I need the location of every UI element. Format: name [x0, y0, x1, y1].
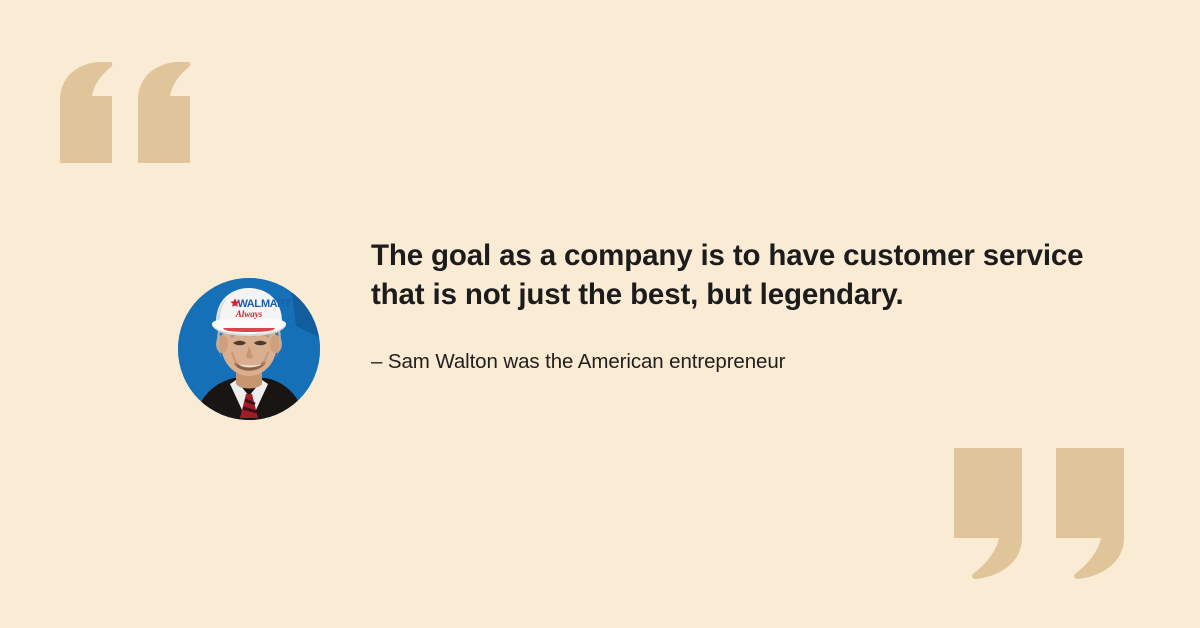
quote-content-row: WAL MART MART Always The goal as a compa… [178, 236, 1178, 420]
quote-text-block: The goal as a company is to have custome… [371, 236, 1178, 376]
portrait-avatar: WAL MART MART Always [178, 278, 320, 420]
quote-text: The goal as a company is to have custome… [371, 236, 1101, 314]
svg-text:MART: MART [261, 298, 292, 310]
svg-text:Always: Always [235, 309, 263, 319]
quote-card: WAL MART MART Always The goal as a compa… [0, 0, 1200, 628]
open-quote-mark-icon [58, 60, 208, 165]
quote-attribution: – Sam Walton was the American entreprene… [371, 314, 1178, 376]
close-quote-mark-icon [952, 446, 1144, 582]
quote-line-2: that is not just the best, but legendary… [371, 278, 904, 311]
quote-line-1: The goal as a company is to have custome… [371, 239, 1083, 272]
